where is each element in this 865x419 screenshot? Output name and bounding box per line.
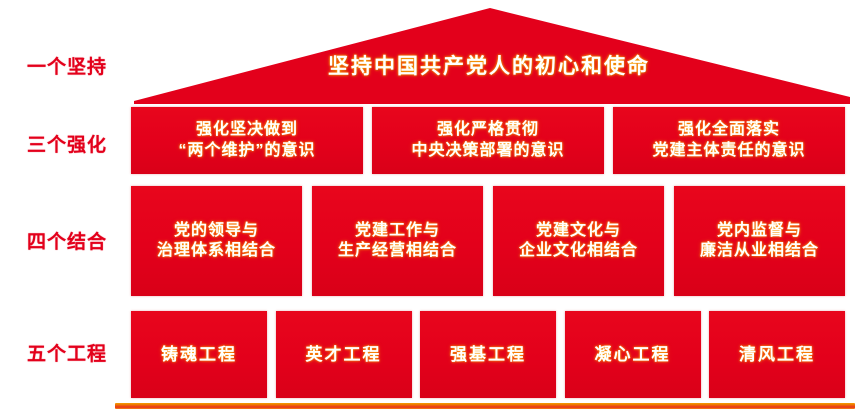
box-label: 强化严格贯彻 中央决策部署的意识 [411,120,564,161]
box-label: 英才工程 [306,344,382,366]
box-strengthen-central-decisions[interactable]: 强化严格贯彻 中央决策部署的意识 [372,107,604,174]
row-three-strengthenings: 强化坚决做到 “两个维护”的意识 强化严格贯彻 中央决策部署的意识 强化全面落实… [131,107,845,174]
box-label: 党建文化与 企业文化相结合 [519,221,638,262]
box-talent-project[interactable]: 英才工程 [276,311,412,398]
box-label: 党的领导与 治理体系相结合 [157,221,276,262]
box-label: 党建工作与 生产经营相结合 [338,221,457,262]
box-cohesion-project[interactable]: 凝心工程 [565,311,701,398]
row-four-combinations: 党的领导与 治理体系相结合 党建工作与 生产经营相结合 党建文化与 企业文化相结… [131,186,845,296]
box-strengthen-two-safeguards[interactable]: 强化坚决做到 “两个维护”的意识 [131,107,363,174]
roof-headline-text: 坚持中国共产党人的初心和使命 [128,56,850,77]
box-label: 清风工程 [739,344,815,366]
box-label: 强基工程 [450,344,526,366]
tier-label-three-strengthenings: 三个强化 [8,136,126,155]
tier-label-one-adherence: 一个坚持 [8,58,126,77]
box-party-supervision-integrity[interactable]: 党内监督与 廉洁从业相结合 [674,186,845,296]
box-label: 铸魂工程 [161,344,237,366]
box-foundation-strengthening-project[interactable]: 强基工程 [420,311,556,398]
box-party-building-production[interactable]: 党建工作与 生产经营相结合 [312,186,483,296]
box-party-culture-enterprise-culture[interactable]: 党建文化与 企业文化相结合 [493,186,664,296]
tier-label-four-combinations: 四个结合 [8,233,126,252]
box-soul-casting-project[interactable]: 铸魂工程 [131,311,267,398]
box-label: 党内监督与 廉洁从业相结合 [700,221,819,262]
tier-label-five-projects: 五个工程 [8,345,126,364]
box-party-leadership-governance[interactable]: 党的领导与 治理体系相结合 [131,186,302,296]
box-label: 凝心工程 [595,344,671,366]
box-strengthen-party-building-responsibility[interactable]: 强化全面落实 党建主体责任的意识 [613,107,845,174]
party-building-pyramid-diagram: 一个坚持 三个强化 四个结合 五个工程 坚持中国共产党人的初心和使命 强化坚决做… [0,0,865,419]
row-five-projects: 铸魂工程 英才工程 强基工程 凝心工程 清风工程 [131,311,845,398]
box-label: 强化全面落实 党建主体责任的意识 [652,120,805,161]
foundation-baseline [115,403,855,409]
box-label: 强化坚决做到 “两个维护”的意识 [178,120,315,161]
box-clean-breeze-project[interactable]: 清风工程 [709,311,845,398]
